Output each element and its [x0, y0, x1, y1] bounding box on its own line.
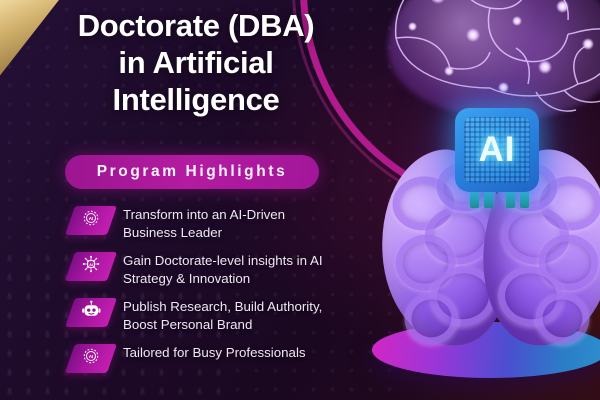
neural-node	[556, 0, 569, 13]
highlight-icon-badge	[65, 298, 117, 327]
list-item-line: Boost Personal Brand	[123, 316, 322, 334]
list-item-text: Tailored for Busy Professionals	[123, 342, 306, 362]
highlight-icon-badge: AI	[65, 344, 117, 373]
list-item-text: Transform into an AI-Driven Business Lea…	[123, 204, 285, 241]
list-item-text: Gain Doctorate-level insights in AI Stra…	[123, 250, 323, 287]
list-item-line: Strategy & Innovation	[123, 270, 323, 288]
neural-node	[444, 66, 454, 76]
list-item: AI Tailored for Busy Professionals	[70, 342, 390, 378]
neural-node	[466, 28, 480, 42]
neural-network-chip-icon: AI	[81, 254, 101, 279]
list-item-line: Transform into an AI-Driven	[123, 206, 285, 224]
program-highlights-badge: Program Highlights	[65, 155, 319, 189]
neural-node	[582, 38, 594, 50]
gear-ai-icon: AI	[81, 208, 101, 233]
highlights-list: AI Transform into an AI-Driven Business …	[70, 204, 390, 387]
list-item-line: Business Leader	[123, 224, 285, 242]
list-item-line: Gain Doctorate-level insights in AI	[123, 252, 323, 270]
robot-head-icon	[81, 300, 102, 326]
list-item: AI Transform into an AI-Driven Business …	[70, 204, 390, 241]
ai-chip-label: AI	[479, 130, 516, 170]
highlight-icon-badge: AI	[65, 252, 117, 281]
list-item-text: Publish Research, Build Authority, Boost…	[123, 296, 322, 333]
list-item: AI	[70, 250, 390, 287]
ai-chip-die: AI	[464, 117, 530, 183]
ai-chip-graphic: AI	[455, 108, 539, 192]
svg-text:AI: AI	[89, 263, 93, 267]
svg-text:AI: AI	[89, 354, 94, 359]
list-item: Publish Research, Build Authority, Boost…	[70, 296, 390, 333]
neural-node	[538, 60, 552, 74]
promotional-poster: AI Doctorate (DBA) in Artificial Intelli…	[0, 0, 600, 400]
gear-ai-icon: AI	[81, 346, 101, 371]
title-line-1: Doctorate (DBA)	[10, 8, 382, 45]
title-line-3: Intelligence	[10, 82, 382, 119]
neural-node	[498, 82, 509, 93]
content-column: Doctorate (DBA) in Artificial Intelligen…	[0, 0, 392, 400]
title-line-2: in Artificial	[10, 45, 382, 82]
svg-text:AI: AI	[89, 216, 94, 221]
program-highlights-label: Program Highlights	[97, 163, 288, 181]
list-item-line: Tailored for Busy Professionals	[123, 344, 306, 362]
highlight-icon-badge: AI	[65, 206, 117, 235]
page-title: Doctorate (DBA) in Artificial Intelligen…	[10, 8, 382, 119]
list-item-line: Publish Research, Build Authority,	[123, 298, 322, 316]
neural-node	[408, 22, 417, 31]
neural-node	[512, 16, 522, 26]
